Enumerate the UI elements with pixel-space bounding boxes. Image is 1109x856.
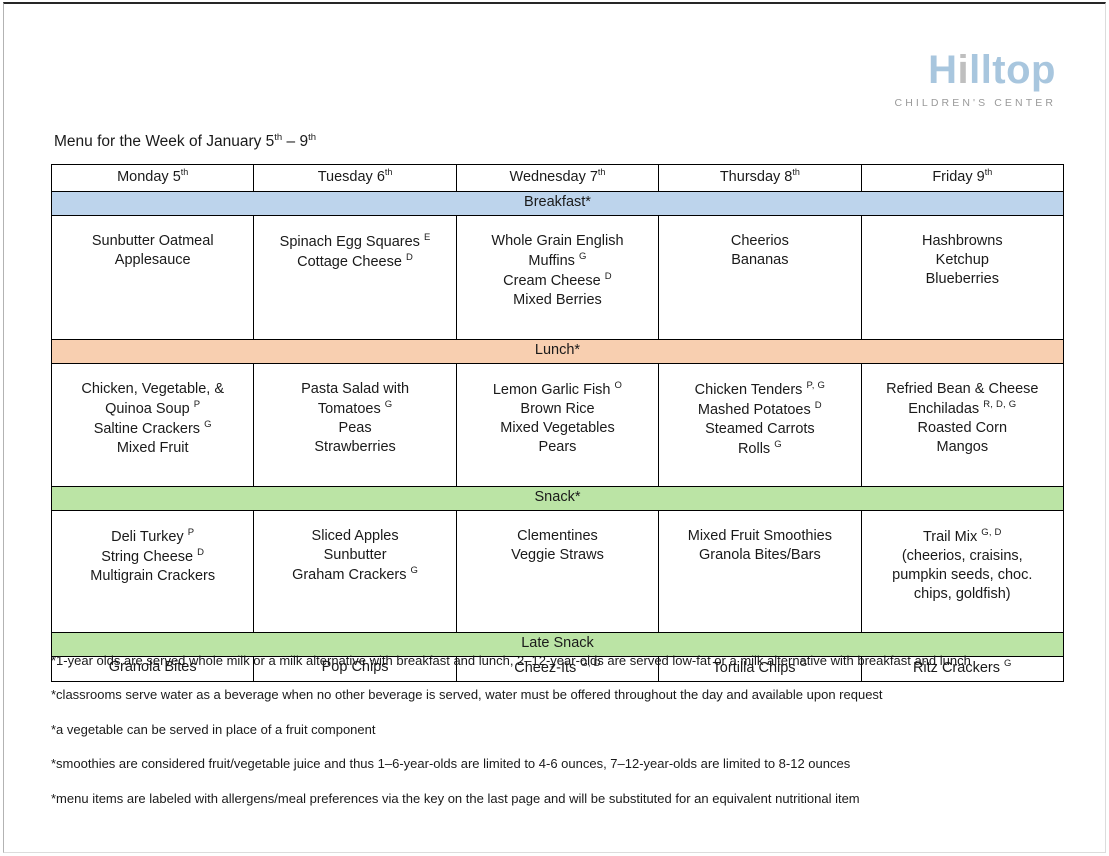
menu-item: Cottage Cheese D — [260, 252, 449, 272]
menu-item: String Cheese D — [58, 547, 247, 567]
menu-cell-lunch-day4: Chicken Tenders P, GMashed Potatoes DSte… — [659, 364, 861, 487]
menu-item: Whole Grain English — [463, 232, 652, 251]
menu-item: Pears — [463, 438, 652, 457]
allergen-marker: G — [204, 419, 212, 430]
menu-item: Sliced Apples — [260, 527, 449, 546]
menu-item: Mashed Potatoes D — [665, 400, 854, 420]
menu-item: Blueberries — [868, 270, 1057, 289]
allergen-marker: G — [579, 251, 587, 262]
menu-cell-lunch-day3: Lemon Garlic Fish OBrown RiceMixed Veget… — [456, 364, 658, 487]
menu-item: Brown Rice — [463, 400, 652, 419]
menu-item: Rolls G — [665, 439, 854, 459]
allergen-marker: D — [406, 252, 413, 263]
menu-item: Refried Bean & Cheese — [868, 380, 1057, 399]
document-page: Hilltop CHILDREN'S CENTER Menu for the W… — [3, 2, 1106, 853]
title-prefix: Menu for the Week of January 5 — [54, 133, 274, 150]
footnotes: *1-year olds are served whole milk or a … — [51, 652, 1065, 824]
menu-cell-snack-day4: Mixed Fruit SmoothiesGranola Bites/Bars — [659, 511, 861, 633]
date-ordinal: th — [985, 167, 993, 177]
menu-item: Enchiladas R, D, G — [868, 399, 1057, 419]
menu-item: chips, goldfish) — [868, 585, 1057, 604]
allergen-marker: G — [385, 399, 393, 410]
title-middle: – 9 — [282, 133, 308, 150]
footnote-2: *classrooms serve water as a beverage wh… — [51, 686, 1065, 704]
meal-row-lunch: Chicken, Vegetable, &Quinoa Soup PSaltin… — [52, 364, 1064, 487]
menu-item: Strawberries — [260, 438, 449, 457]
menu-item: Trail Mix G, D — [868, 527, 1057, 547]
menu-cell-snack-day1: Deli Turkey PString Cheese DMultigrain C… — [52, 511, 254, 633]
logo-wordmark: Hilltop — [895, 50, 1056, 90]
menu-item: Mangos — [868, 438, 1057, 457]
menu-cell-breakfast-day1: Sunbutter OatmealApplesauce — [52, 216, 254, 340]
allergen-marker: G — [411, 565, 419, 576]
meal-band-breakfast: Breakfast* — [52, 192, 1064, 216]
allergen-marker: D — [815, 400, 822, 411]
menu-item: Tomatoes G — [260, 399, 449, 419]
menu-item: Spinach Egg Squares E — [260, 232, 449, 252]
column-header-day4: Thursday 8th — [659, 165, 861, 192]
menu-item: Hashbrowns — [868, 232, 1057, 251]
menu-item: Deli Turkey P — [58, 527, 247, 547]
page-title: Menu for the Week of January 5th – 9th — [54, 132, 316, 151]
meal-band-row-snack: Snack* — [52, 487, 1064, 511]
menu-item: Peas — [260, 419, 449, 438]
menu-item: Bananas — [665, 251, 854, 270]
menu-item: Sunbutter Oatmeal — [58, 232, 247, 251]
menu-item: Cream Cheese D — [463, 271, 652, 291]
column-header-day3: Wednesday 7th — [456, 165, 658, 192]
logo-tagline: CHILDREN'S CENTER — [895, 97, 1056, 109]
allergen-marker: G, D — [981, 527, 1001, 538]
logo-letter-h: H — [928, 48, 957, 92]
column-header-day1: Monday 5th — [52, 165, 254, 192]
menu-cell-breakfast-day5: HashbrownsKetchupBlueberries — [861, 216, 1063, 340]
date-ordinal: th — [598, 167, 606, 177]
meal-band-snack: Snack* — [52, 487, 1064, 511]
menu-item: Mixed Fruit Smoothies — [665, 527, 854, 546]
column-header-day2: Tuesday 6th — [254, 165, 456, 192]
menu-item: pumpkin seeds, choc. — [868, 566, 1057, 585]
menu-item: Lemon Garlic Fish O — [463, 380, 652, 400]
menu-item: Clementines — [463, 527, 652, 546]
menu-item: Applesauce — [58, 251, 247, 270]
allergen-marker: O — [615, 380, 623, 391]
allergen-marker: G — [774, 439, 782, 450]
allergen-marker: P, G — [806, 380, 825, 391]
date-ordinal: th — [385, 167, 393, 177]
menu-cell-lunch-day2: Pasta Salad withTomatoes GPeasStrawberri… — [254, 364, 456, 487]
menu-cell-snack-day2: Sliced ApplesSunbutterGraham Crackers G — [254, 511, 456, 633]
menu-item: Mixed Fruit — [58, 439, 247, 458]
table-header-row: Monday 5thTuesday 6thWednesday 7thThursd… — [52, 165, 1064, 192]
allergen-marker: E — [424, 232, 431, 243]
menu-item: Roasted Corn — [868, 419, 1057, 438]
menu-item: Graham Crackers G — [260, 565, 449, 585]
menu-item: Saltine Crackers G — [58, 419, 247, 439]
meal-row-breakfast: Sunbutter OatmealApplesauceSpinach Egg S… — [52, 216, 1064, 340]
column-header-day5: Friday 9th — [861, 165, 1063, 192]
allergen-marker: P — [188, 527, 195, 538]
menu-item: Mixed Vegetables — [463, 419, 652, 438]
meal-band-row-breakfast: Breakfast* — [52, 192, 1064, 216]
menu-cell-breakfast-day3: Whole Grain EnglishMuffins GCream Cheese… — [456, 216, 658, 340]
menu-cell-snack-day3: ClementinesVeggie Straws — [456, 511, 658, 633]
meal-band-lunch: Lunch* — [52, 340, 1064, 364]
menu-cell-lunch-day1: Chicken, Vegetable, &Quinoa Soup PSaltin… — [52, 364, 254, 487]
menu-item: Steamed Carrots — [665, 420, 854, 439]
footnote-1: *1-year olds are served whole milk or a … — [51, 652, 1065, 670]
logo-letters-rest: lltop — [969, 48, 1056, 92]
allergen-marker: D — [197, 547, 204, 558]
meal-band-row-lunch: Lunch* — [52, 340, 1064, 364]
allergen-marker: P — [194, 399, 201, 410]
meal-row-snack: Deli Turkey PString Cheese DMultigrain C… — [52, 511, 1064, 633]
menu-cell-snack-day5: Trail Mix G, D(cheerios, craisins,pumpki… — [861, 511, 1063, 633]
menu-item: Muffins G — [463, 251, 652, 271]
menu-item: Quinoa Soup P — [58, 399, 247, 419]
title-ordinal-end: th — [308, 132, 316, 143]
menu-item: Multigrain Crackers — [58, 567, 247, 586]
menu-cell-breakfast-day4: CheeriosBananas — [659, 216, 861, 340]
date-ordinal: th — [792, 167, 800, 177]
hilltop-logo: Hilltop CHILDREN'S CENTER — [895, 50, 1056, 109]
menu-item: (cheerios, craisins, — [868, 547, 1057, 566]
menu-item: Chicken Tenders P, G — [665, 380, 854, 400]
menu-item: Chicken, Vegetable, & — [58, 380, 247, 399]
logo-letter-i-dot: i — [957, 48, 969, 92]
footnote-3: *a vegetable can be served in place of a… — [51, 721, 1065, 739]
menu-item: Mixed Berries — [463, 291, 652, 310]
menu-item: Sunbutter — [260, 546, 449, 565]
menu-item: Veggie Straws — [463, 546, 652, 565]
menu-cell-lunch-day5: Refried Bean & CheeseEnchiladas R, D, GR… — [861, 364, 1063, 487]
menu-item: Ketchup — [868, 251, 1057, 270]
allergen-marker: R, D, G — [983, 399, 1016, 410]
menu-item: Cheerios — [665, 232, 854, 251]
menu-item: Pasta Salad with — [260, 380, 449, 399]
footnote-5: *menu items are labeled with allergens/m… — [51, 790, 1065, 808]
menu-item: Granola Bites/Bars — [665, 546, 854, 565]
menu-cell-breakfast-day2: Spinach Egg Squares ECottage Cheese D — [254, 216, 456, 340]
footnote-4: *smoothies are considered fruit/vegetabl… — [51, 755, 1065, 773]
date-ordinal: th — [181, 167, 189, 177]
weekly-menu-table: Monday 5thTuesday 6thWednesday 7thThursd… — [51, 164, 1064, 682]
allergen-marker: D — [605, 271, 612, 282]
